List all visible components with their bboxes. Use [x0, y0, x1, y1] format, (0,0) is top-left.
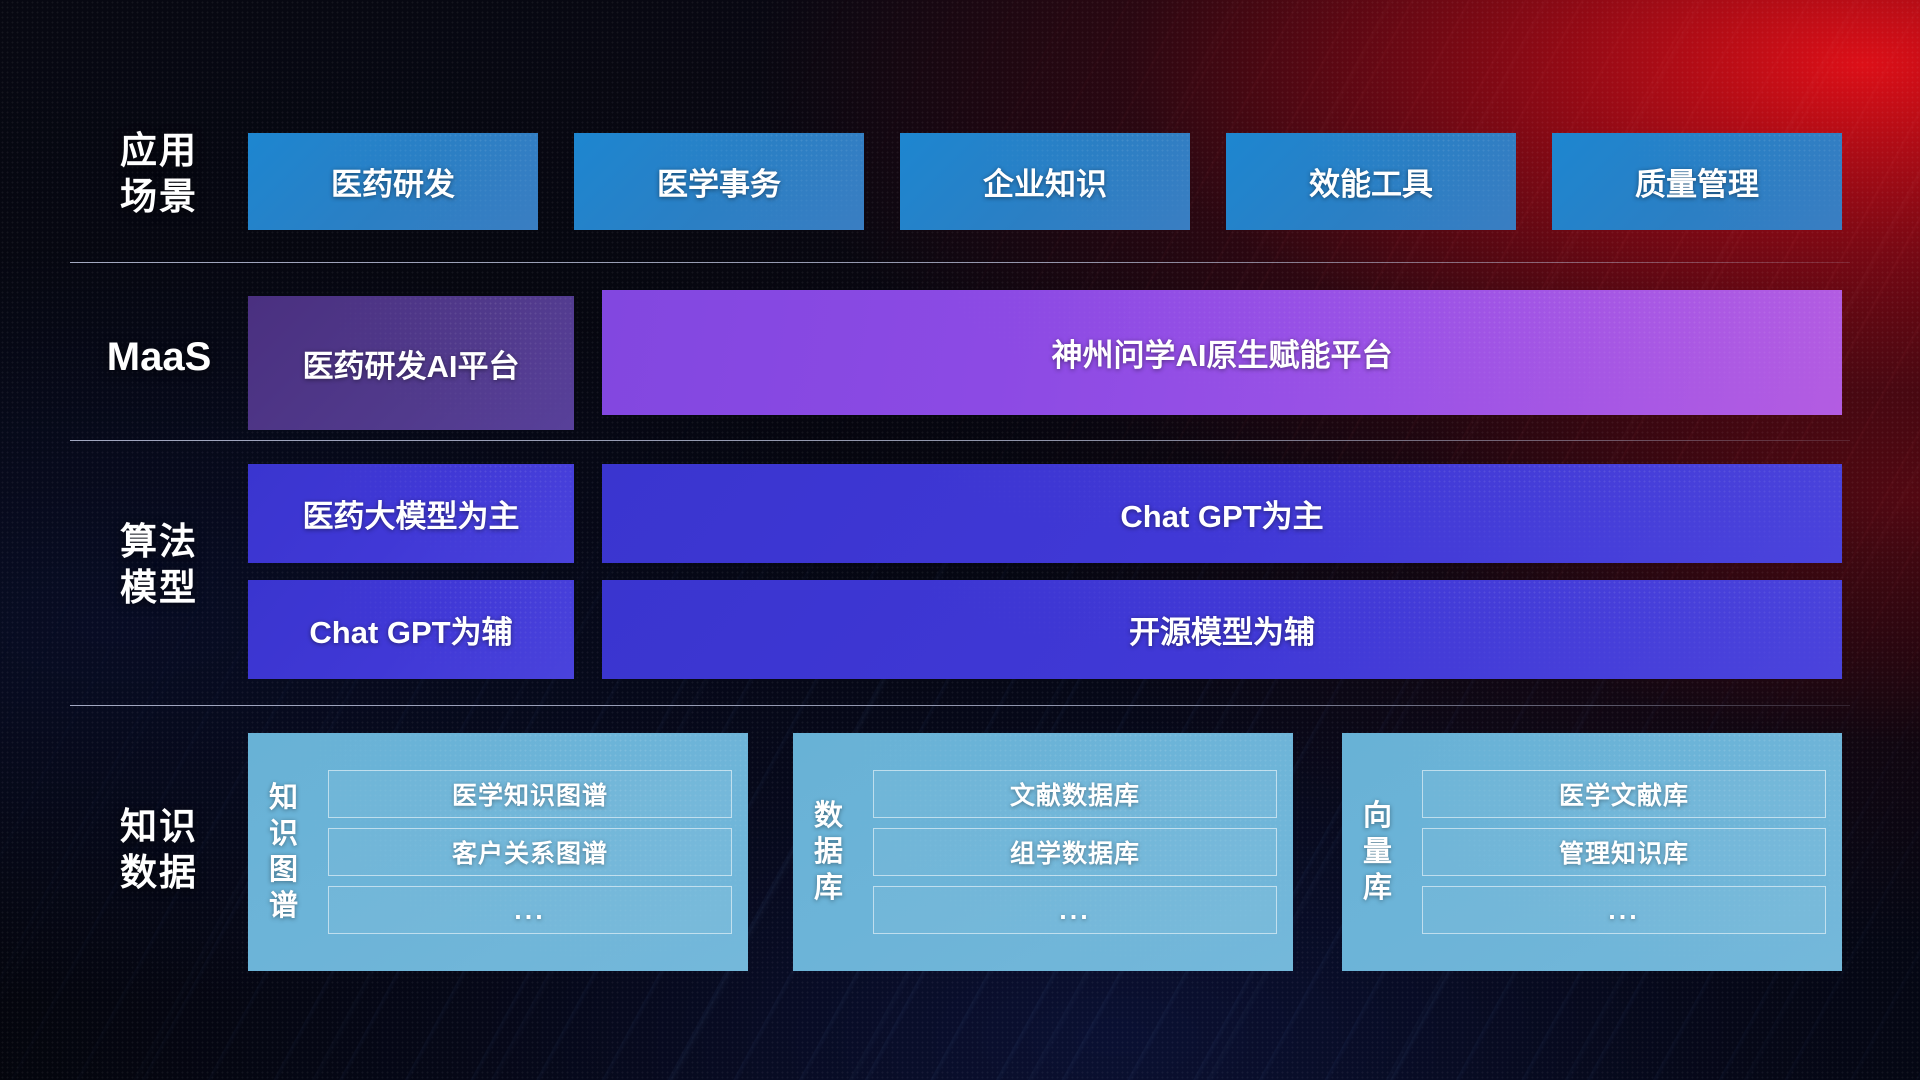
app-card-label: 效能工具	[1309, 159, 1433, 204]
divider-algorithm-knowledge	[70, 705, 1850, 706]
app-card-medical-affairs[interactable]: 医学事务	[574, 133, 864, 230]
algo-card-label: 医药大模型为主	[303, 491, 520, 536]
maas-card-label: 神州问学AI原生赋能平台	[1052, 330, 1393, 375]
app-card-quality-management[interactable]: 质量管理	[1552, 133, 1842, 230]
app-card-label: 质量管理	[1635, 159, 1759, 204]
knowledge-item-list: 医学文献库 管理知识库 ...	[1414, 733, 1842, 971]
knowledge-panel-knowledge-graph[interactable]: 知 识 图 谱 医学知识图谱 客户关系图谱 ...	[248, 733, 748, 971]
knowledge-item[interactable]: 医学文献库	[1422, 770, 1826, 818]
row-label-application: 应用 场景	[70, 128, 248, 220]
knowledge-item[interactable]: 医学知识图谱	[328, 770, 732, 818]
algo-card-opensource-secondary[interactable]: 开源模型为辅	[602, 580, 1842, 679]
knowledge-panel-title: 向 量 库	[1342, 733, 1414, 971]
app-card-enterprise-knowledge[interactable]: 企业知识	[900, 133, 1190, 230]
knowledge-item[interactable]: 文献数据库	[873, 770, 1277, 818]
algo-card-chatgpt-secondary[interactable]: Chat GPT为辅	[248, 580, 574, 679]
knowledge-item-more[interactable]: ...	[328, 886, 732, 934]
divider-maas-algorithm	[70, 440, 1850, 441]
knowledge-item-list: 文献数据库 组学数据库 ...	[865, 733, 1293, 971]
slide-canvas: 应用 场景 医药研发 医学事务 企业知识 效能工具 质量管理 MaaS 医药研发…	[0, 0, 1920, 1080]
architecture-diagram: 应用 场景 医药研发 医学事务 企业知识 效能工具 质量管理 MaaS 医药研发…	[0, 0, 1920, 1080]
knowledge-item-more[interactable]: ...	[873, 886, 1277, 934]
knowledge-panel-vector-store[interactable]: 向 量 库 医学文献库 管理知识库 ...	[1342, 733, 1842, 971]
maas-card-shenzhou-wenxue-platform[interactable]: 神州问学AI原生赋能平台	[602, 290, 1842, 415]
knowledge-item[interactable]: 管理知识库	[1422, 828, 1826, 876]
knowledge-panel-title: 数 据 库	[793, 733, 865, 971]
row-label-algorithm: 算法 模型	[70, 519, 248, 611]
algo-card-chatgpt-primary[interactable]: Chat GPT为主	[602, 464, 1842, 563]
maas-card-label: 医药研发AI平台	[303, 341, 520, 386]
algo-card-label: 开源模型为辅	[1129, 607, 1315, 652]
algo-card-label: Chat GPT为主	[1120, 491, 1323, 536]
row-label-maas: MaaS	[70, 334, 248, 380]
divider-application-maas	[70, 262, 1850, 263]
row-label-knowledge: 知识 数据	[70, 804, 248, 896]
knowledge-item[interactable]: 组学数据库	[873, 828, 1277, 876]
knowledge-item[interactable]: 客户关系图谱	[328, 828, 732, 876]
knowledge-item-list: 医学知识图谱 客户关系图谱 ...	[320, 733, 748, 971]
app-card-label: 企业知识	[983, 159, 1107, 204]
algo-card-pharma-llm-primary[interactable]: 医药大模型为主	[248, 464, 574, 563]
app-card-efficiency-tools[interactable]: 效能工具	[1226, 133, 1516, 230]
app-card-label: 医学事务	[657, 159, 781, 204]
knowledge-panel-title: 知 识 图 谱	[248, 733, 320, 971]
maas-card-pharma-ai-platform[interactable]: 医药研发AI平台	[248, 296, 574, 430]
app-card-label: 医药研发	[331, 159, 455, 204]
app-card-medicine-rd[interactable]: 医药研发	[248, 133, 538, 230]
knowledge-panel-database[interactable]: 数 据 库 文献数据库 组学数据库 ...	[793, 733, 1293, 971]
algo-card-label: Chat GPT为辅	[309, 607, 512, 652]
knowledge-item-more[interactable]: ...	[1422, 886, 1826, 934]
